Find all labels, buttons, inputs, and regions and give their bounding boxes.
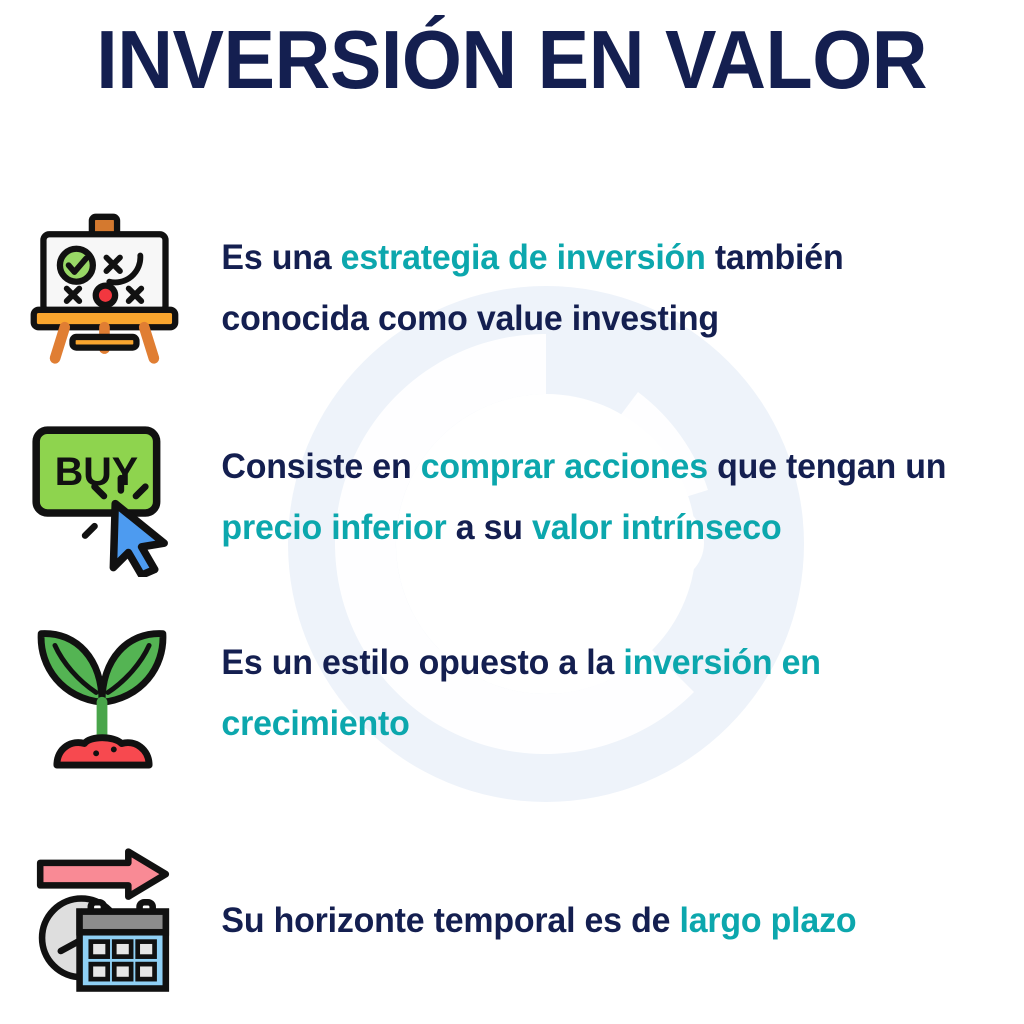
- sprout-plant-icon: [18, 616, 188, 771]
- page-title-container: INVERSIÓN EN VALOR: [0, 18, 1024, 101]
- text-segment-accent: valor intrínseco: [532, 507, 781, 547]
- text-line: Es un estilo opuesto a la inversión en: [221, 632, 820, 693]
- text-segment: también: [706, 237, 844, 277]
- list-item-text: Consiste en comprar acciones que tengan …: [188, 436, 946, 558]
- list-item: BUY Consiste en comprar acciones que ten…: [18, 412, 1018, 582]
- list-item-text: Su horizonte temporal es de largo plazo: [188, 890, 856, 951]
- buy-button-click-icon: BUY: [18, 417, 188, 577]
- clock-calendar-arrow-icon: [18, 846, 188, 996]
- text-segment-accent: estrategia de inversión: [341, 237, 706, 277]
- list-item: Su horizonte temporal es de largo plazo: [18, 838, 1018, 1003]
- text-segment: que tengan un: [708, 446, 946, 486]
- text-segment: a su: [447, 507, 533, 547]
- page-title: INVERSIÓN EN VALOR: [97, 18, 928, 101]
- text-line: Consiste en comprar acciones que tengan …: [221, 436, 946, 497]
- text-segment-accent: crecimiento: [221, 703, 409, 743]
- text-line: Su horizonte temporal es de largo plazo: [221, 890, 856, 951]
- text-segment: Consiste en: [221, 446, 420, 486]
- text-segment-accent: precio inferior: [221, 507, 446, 547]
- text-segment-accent: inversión en: [623, 642, 820, 682]
- text-segment: Es una: [221, 237, 340, 277]
- infographic-canvas: INVERSIÓN EN VALOR: [0, 0, 1024, 1024]
- text-line: Es una estrategia de inversión también: [221, 227, 843, 288]
- text-segment-accent: largo plazo: [679, 900, 856, 940]
- list-item-text: Es una estrategia de inversión también c…: [188, 227, 843, 349]
- text-segment-accent: comprar acciones: [421, 446, 708, 486]
- list-item: Es una estrategia de inversión también c…: [18, 208, 1018, 368]
- list-item: Es un estilo opuesto a la inversión en c…: [18, 608, 1018, 778]
- text-line: conocida como value investing: [221, 288, 843, 349]
- text-segment: Su horizonte temporal es de: [221, 900, 679, 940]
- text-line: precio inferior a su valor intrínseco: [221, 497, 946, 558]
- text-line: crecimiento: [221, 693, 820, 754]
- text-segment: Es un estilo opuesto a la: [221, 642, 623, 682]
- strategy-board-icon: [18, 211, 188, 366]
- text-segment: conocida como value investing: [221, 298, 718, 338]
- list-item-text: Es un estilo opuesto a la inversión en c…: [188, 632, 821, 754]
